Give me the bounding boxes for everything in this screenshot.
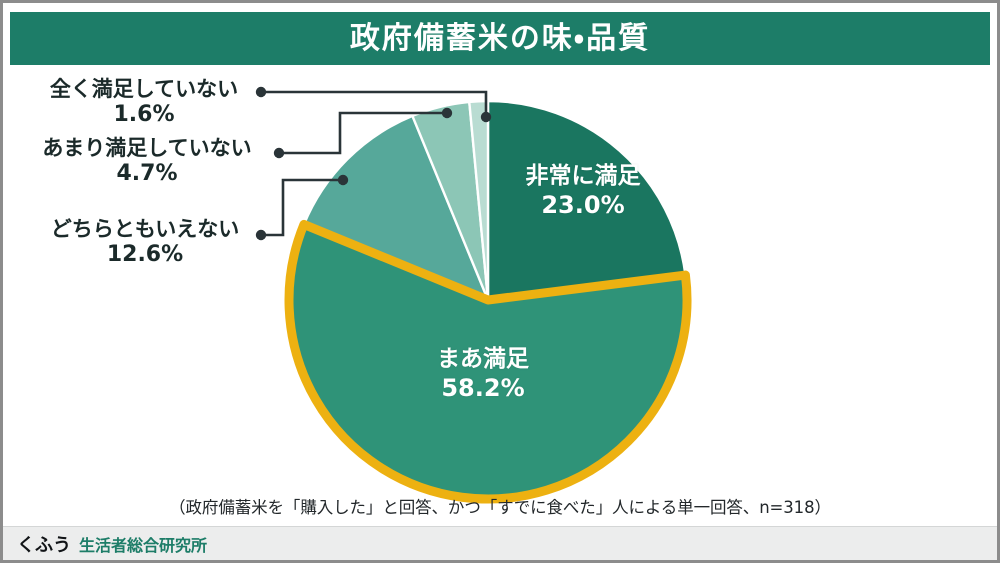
leader-neutral-anchor-dot <box>338 175 348 185</box>
leader-not-at-all-satisfied-anchor-dot <box>481 112 491 122</box>
leader-not-very-satisfied-anchor-dot <box>442 108 452 118</box>
callout-label-not-very-satisfied: あまり満足していない 4.7% <box>19 136 275 187</box>
callout-value: 4.7% <box>19 161 275 187</box>
slice-label-value: 58.2% <box>373 374 593 403</box>
footer-org-name: 生活者総合研究所 <box>79 532 207 556</box>
callout-value: 1.6% <box>25 102 263 128</box>
callout-name: 全く満足していない <box>25 77 263 102</box>
slice-label-somewhat-satisfied: まあ満足 58.2% <box>373 346 593 402</box>
leader-not-very-satisfied-label-dot <box>274 148 284 158</box>
slide-canvas: 政府備蓄米の味・品質 全く満足していない 1.6% あまり満足していない 4.7… <box>3 3 997 560</box>
callout-value: 12.6% <box>25 242 265 268</box>
callout-label-not-at-all-satisfied: 全く満足していない 1.6% <box>25 77 263 128</box>
callout-label-neutral: どちらともいえない 12.6% <box>25 217 265 268</box>
footer-bar: くふう 生活者総合研究所 <box>3 526 997 560</box>
slice-label-name: まあ満足 <box>373 346 593 374</box>
callout-name: どちらともいえない <box>25 217 265 242</box>
slice-label-name: 非常に満足 <box>493 163 673 191</box>
callout-name: あまり満足していない <box>19 136 275 161</box>
footnote: （政府備蓄米を「購入した」と回答、かつ「すでに食べた」人による単一回答、n=31… <box>3 494 997 518</box>
footer-logo: くふう <box>17 531 71 557</box>
slice-label-very-satisfied: 非常に満足 23.0% <box>493 163 673 219</box>
slice-label-value: 23.0% <box>493 191 673 220</box>
